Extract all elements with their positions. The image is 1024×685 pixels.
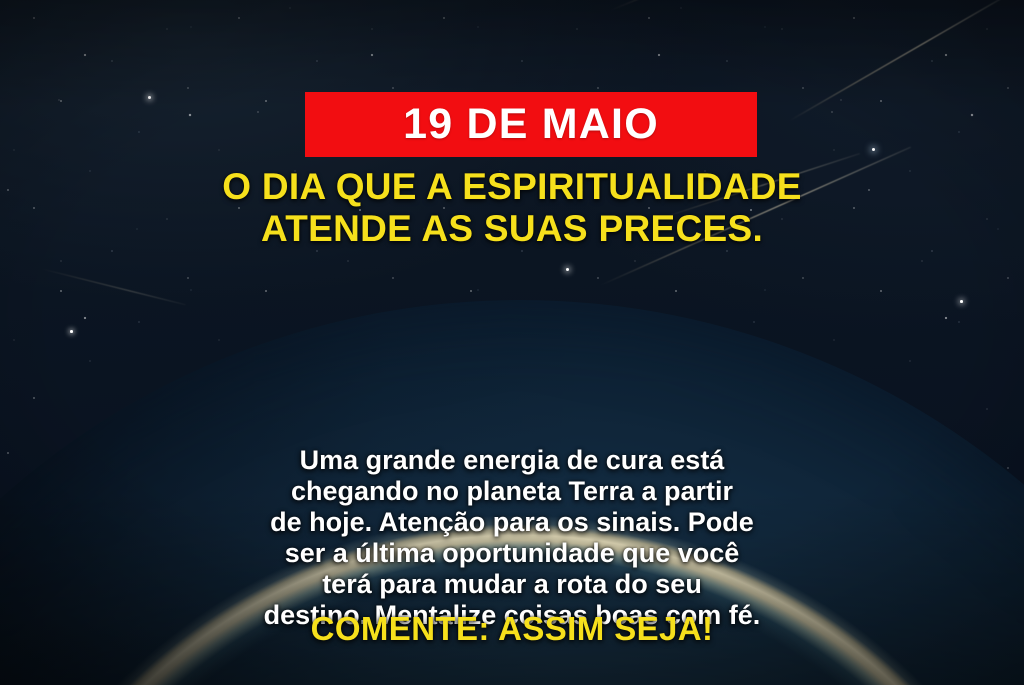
cta-label: COMENTE: ASSIM SEJA! [311, 610, 714, 647]
headline-line-1: O DIA QUE A ESPIRITUALIDADE [222, 166, 802, 207]
body-line: de hoje. Atenção para os sinais. Pode [46, 507, 978, 538]
headline: O DIA QUE A ESPIRITUALIDADE ATENDE AS SU… [0, 166, 1024, 250]
body-line: ser a última oportunidade que você [46, 538, 978, 569]
body-line: terá para mudar a rota do seu [46, 569, 978, 600]
body-line: Uma grande energia de cura está [46, 445, 978, 476]
poster-canvas: 19 DE MAIO O DIA QUE A ESPIRITUALIDADE A… [0, 0, 1024, 685]
body-line: chegando no planeta Terra a partir [46, 476, 978, 507]
headline-line-2: ATENDE AS SUAS PRECES. [36, 208, 988, 250]
call-to-action: COMENTE: ASSIM SEJA! [0, 612, 1024, 645]
body-copy: Uma grande energia de cura está chegando… [0, 445, 1024, 630]
date-banner-label: 19 DE MAIO [403, 103, 659, 146]
date-banner: 19 DE MAIO [305, 92, 757, 157]
poster-content: 19 DE MAIO O DIA QUE A ESPIRITUALIDADE A… [0, 0, 1024, 685]
